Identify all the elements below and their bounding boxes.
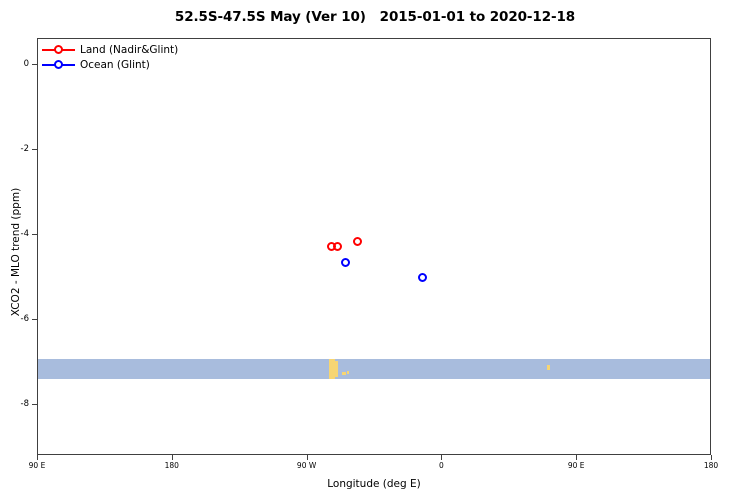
- x-tick-label: 180: [165, 461, 179, 470]
- data-point-ocean: [418, 273, 427, 282]
- x-tick: [307, 455, 308, 460]
- land-patch: [335, 371, 337, 377]
- x-tick: [441, 455, 442, 460]
- legend-marker-ocean-icon: [42, 59, 75, 71]
- data-point-land: [353, 237, 362, 246]
- data-point-ocean: [341, 258, 350, 267]
- legend-item-land[interactable]: Land (Nadir&Glint): [42, 42, 178, 57]
- land-patch: [342, 372, 346, 375]
- chart-legend: Land (Nadir&Glint) Ocean (Glint): [41, 41, 181, 73]
- y-tick: [32, 404, 37, 405]
- legend-label-ocean: Ocean (Glint): [80, 59, 150, 71]
- x-tick-label: 90 W: [297, 461, 316, 470]
- y-tick: [32, 64, 37, 65]
- x-tick: [576, 455, 577, 460]
- x-tick-label: 180: [704, 461, 718, 470]
- x-tick-label: 90 E: [29, 461, 46, 470]
- latitude-band-ocean: [38, 359, 710, 379]
- land-patch: [329, 367, 332, 375]
- y-tick-label: 0: [24, 59, 29, 69]
- plot-area: [37, 38, 711, 455]
- legend-label-land: Land (Nadir&Glint): [80, 44, 178, 56]
- legend-marker-land-icon: [42, 44, 75, 56]
- data-point-land: [333, 242, 342, 251]
- x-tick: [172, 455, 173, 460]
- x-tick: [37, 455, 38, 460]
- x-axis-label: Longitude (deg E): [37, 478, 711, 490]
- y-tick: [32, 319, 37, 320]
- y-tick: [32, 234, 37, 235]
- land-patch: [547, 365, 550, 370]
- chart-title: 52.5S-47.5S May (Ver 10) 2015-01-01 to 2…: [0, 9, 750, 25]
- y-tick-label: -8: [21, 399, 29, 409]
- y-tick: [32, 149, 37, 150]
- x-tick-label: 90 E: [568, 461, 585, 470]
- chart-figure: 52.5S-47.5S May (Ver 10) 2015-01-01 to 2…: [0, 0, 750, 500]
- x-tick-label: 0: [439, 461, 444, 470]
- land-patch: [347, 371, 349, 374]
- x-tick: [711, 455, 712, 460]
- legend-item-ocean[interactable]: Ocean (Glint): [42, 57, 178, 72]
- y-axis-label: XCO2 - MLO trend (ppm): [10, 142, 22, 362]
